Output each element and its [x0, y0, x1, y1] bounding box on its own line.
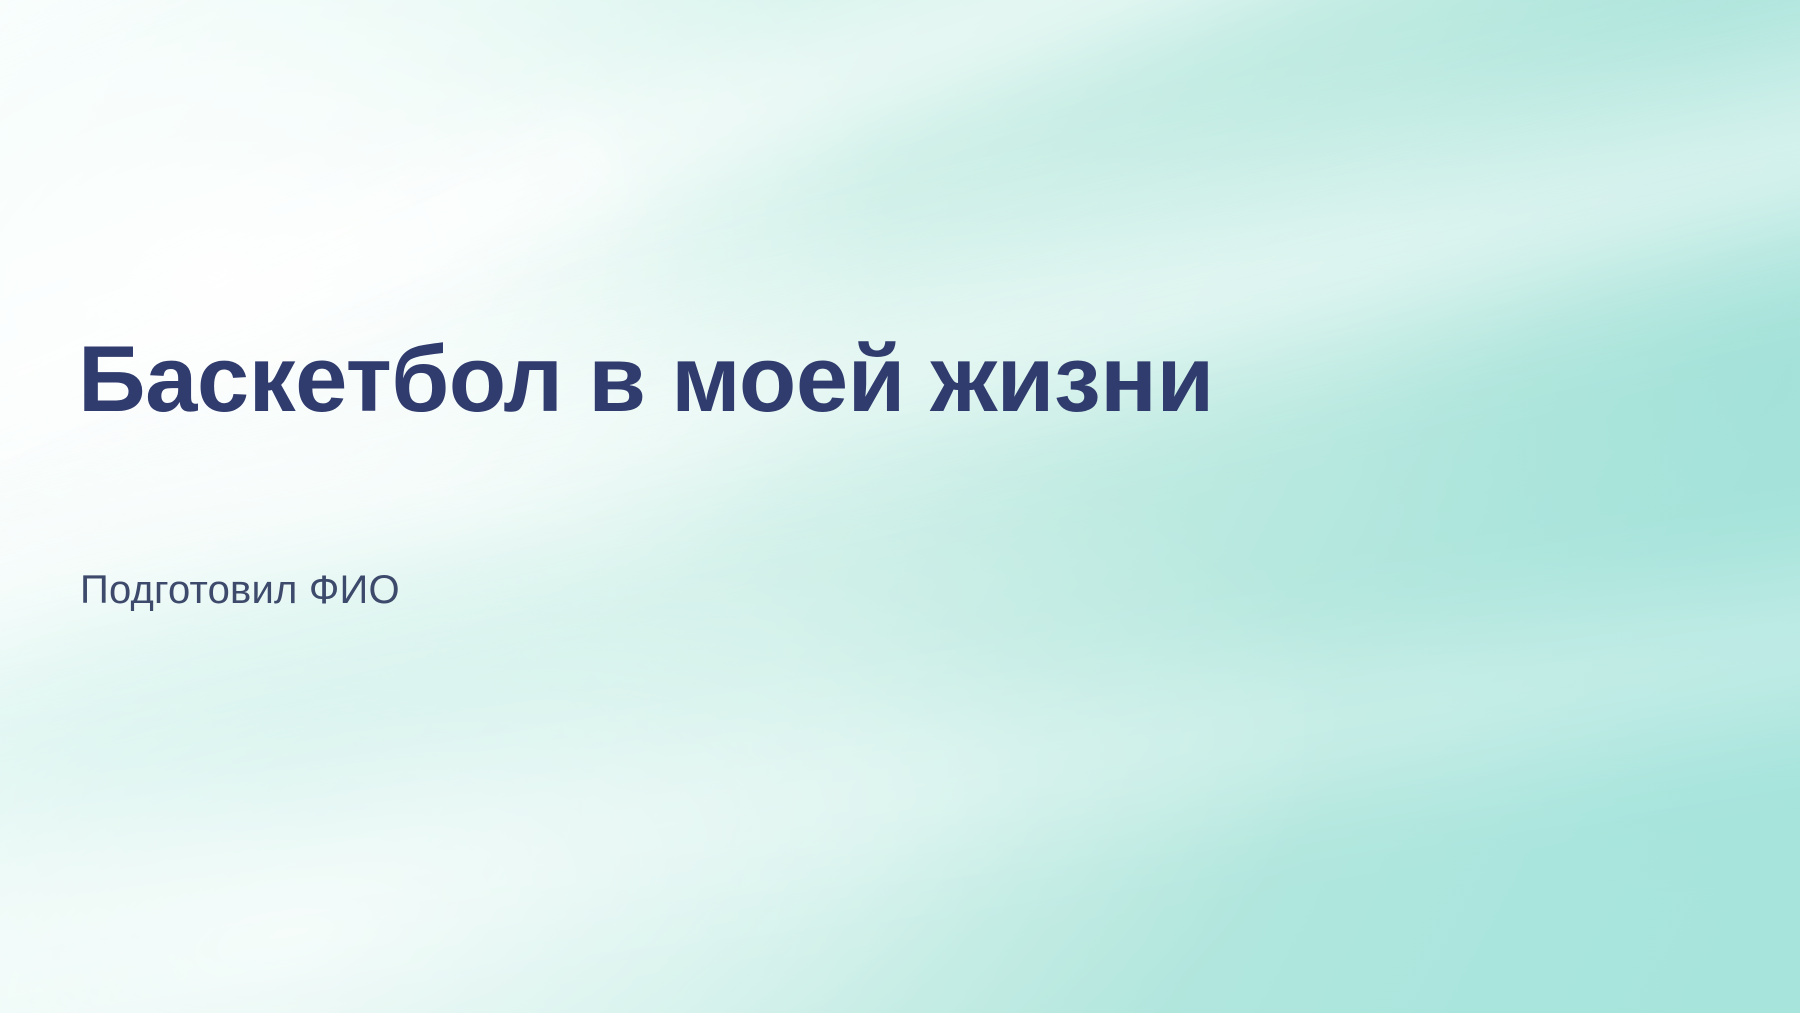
- slide-content: Баскетбол в моей жизни Подготовил ФИО: [78, 0, 1718, 1013]
- slide-subtitle-author: Подготовил ФИО: [80, 566, 400, 614]
- slide-title: Баскетбол в моей жизни: [78, 330, 1678, 428]
- title-slide: Баскетбол в моей жизни Подготовил ФИО: [0, 0, 1800, 1013]
